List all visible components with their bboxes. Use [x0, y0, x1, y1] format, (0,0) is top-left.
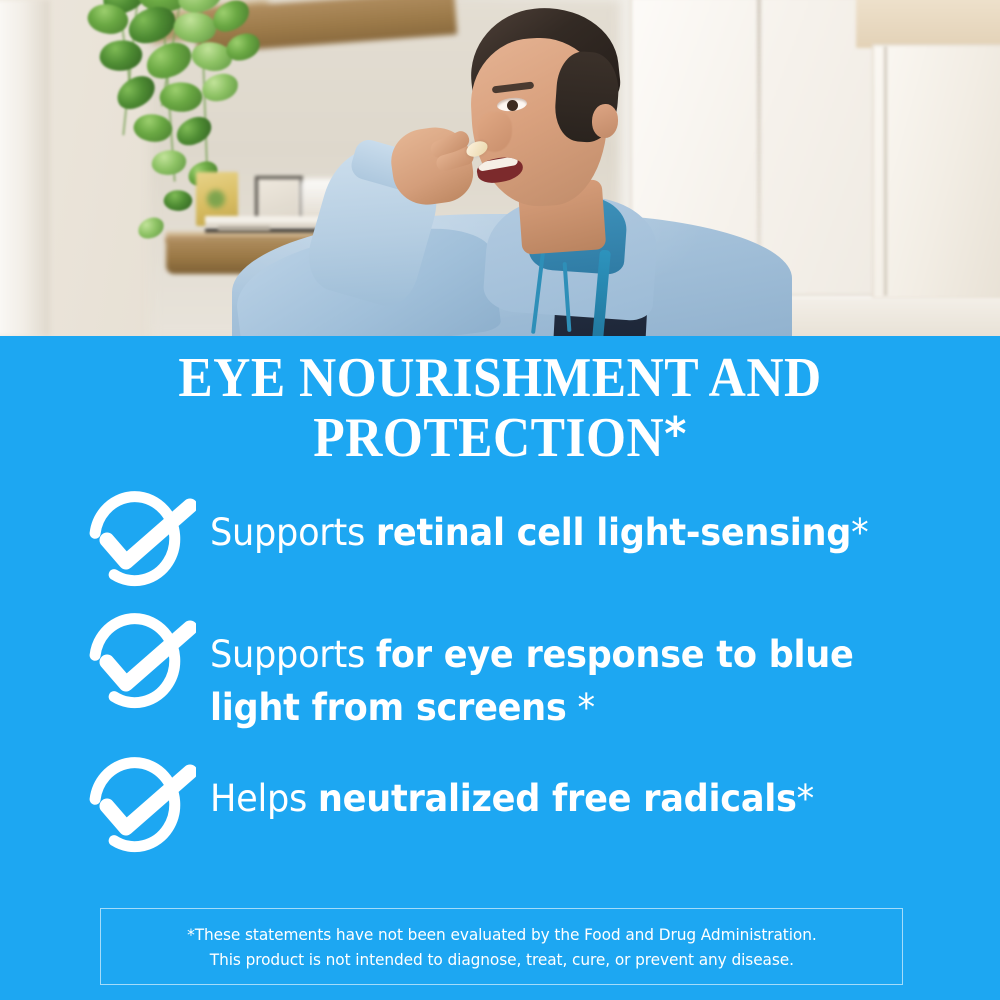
disclaimer-line-1: *These statements have not been evaluate…: [187, 922, 817, 947]
benefit-text: Supports retinal cell light-sensing*: [210, 494, 868, 559]
pupil: [507, 100, 518, 111]
page-title: EYE NOURISHMENT AND PROTECTION*: [40, 348, 960, 468]
list-item: Helps neutralized free radicals*: [78, 760, 958, 856]
benefit-lead: Supports: [210, 511, 376, 554]
headline-line-1: EYE NOURISHMENT AND: [40, 348, 960, 408]
benefits-panel: EYE NOURISHMENT AND PROTECTION* Supports…: [0, 336, 1000, 1000]
disclaimer-box: *These statements have not been evaluate…: [100, 908, 903, 985]
list-item: Supports for eye response to blue light …: [78, 616, 958, 734]
benefit-text: Helps neutralized free radicals*: [210, 760, 814, 825]
headline-line-2-text: PROTECTION: [313, 407, 664, 469]
check-circle-icon: [78, 488, 196, 590]
benefit-emphasis: retinal cell light-sensing: [376, 511, 851, 554]
person: [0, 0, 1000, 336]
ear: [592, 104, 618, 138]
benefit-asterisk: *: [567, 686, 595, 729]
check-circle-icon: [78, 754, 196, 856]
hero-photo: [0, 0, 1000, 336]
benefit-list: Supports retinal cell light-sensing* Sup…: [78, 494, 958, 856]
headline-line-2: PROTECTION*: [40, 408, 960, 468]
check-circle-icon: [78, 610, 196, 712]
benefit-asterisk: *: [797, 777, 814, 820]
list-item: Supports retinal cell light-sensing*: [78, 494, 958, 590]
benefit-asterisk: *: [851, 511, 868, 554]
disclaimer-text: *These statements have not been evaluate…: [187, 922, 817, 972]
disclaimer-line-2: This product is not intended to diagnose…: [187, 947, 817, 972]
promo-graphic: EYE NOURISHMENT AND PROTECTION* Supports…: [0, 0, 1000, 1000]
benefit-lead: Supports: [210, 633, 376, 676]
benefit-lead: Helps: [210, 777, 318, 820]
benefit-emphasis: neutralized free radicals: [318, 777, 797, 820]
headline-asterisk: *: [664, 407, 687, 461]
benefit-text: Supports for eye response to blue light …: [210, 616, 921, 734]
